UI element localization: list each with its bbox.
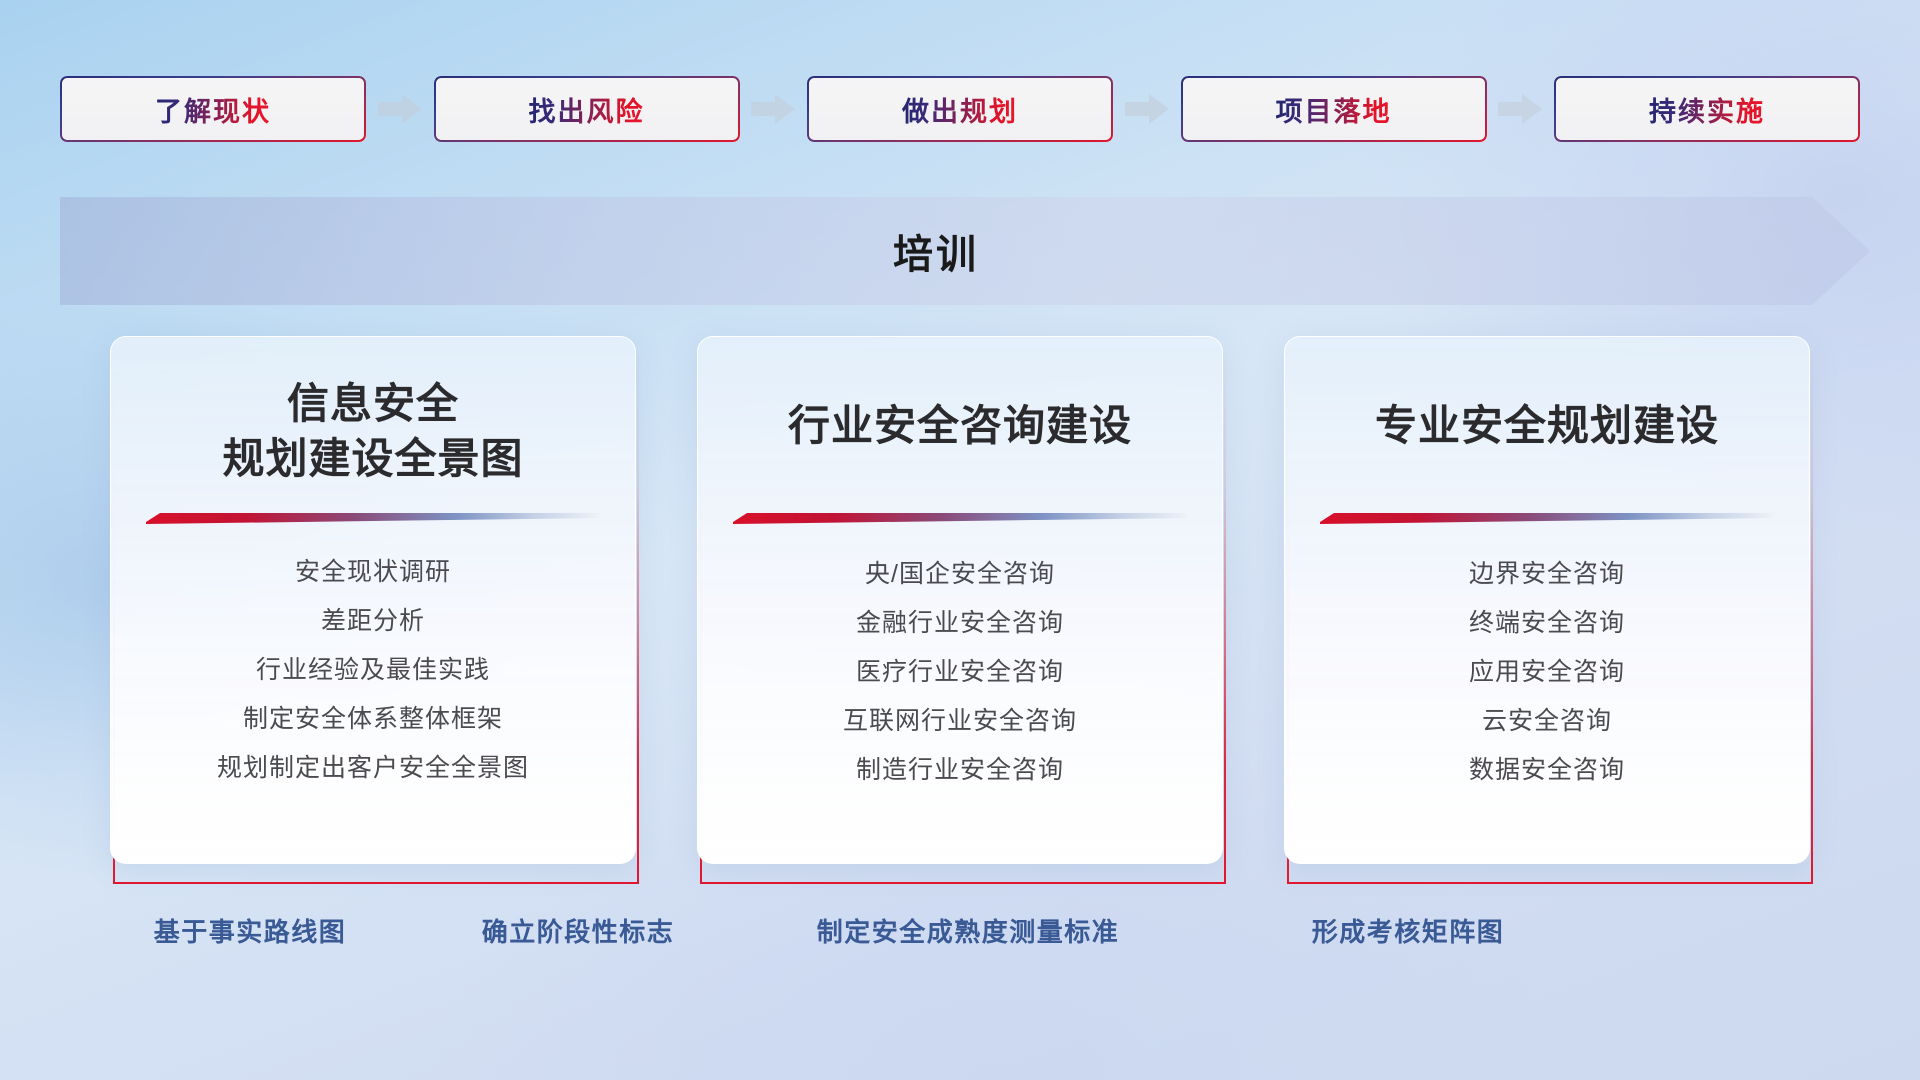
- bottom-label-2: 确立阶段性标志: [482, 912, 675, 949]
- cards-row: 信息安全 规划建设全景图: [110, 336, 1810, 872]
- card-list-2: 央/国企安全咨询 金融行业安全咨询 医疗行业安全咨询 互联网行业安全咨询 制造行…: [698, 550, 1222, 795]
- list-item: 安全现状调研: [295, 548, 451, 597]
- step-box-2[interactable]: 找出风险: [434, 76, 740, 142]
- list-item: 差距分析: [321, 597, 425, 646]
- step-box-5[interactable]: 持续实施: [1554, 76, 1860, 142]
- bottom-label-1: 基于事实路线图: [154, 912, 347, 949]
- bottom-label-4: 形成考核矩阵图: [1312, 912, 1505, 949]
- bottom-labels-row: 基于事实路线图 确立阶段性标志 制定安全成熟度测量标准 形成考核矩阵图: [0, 912, 1920, 956]
- card-title-2: 行业安全咨询建设: [772, 399, 1148, 454]
- card-list-3: 边界安全咨询 终端安全咨询 应用安全咨询 云安全咨询 数据安全咨询: [1285, 550, 1809, 795]
- step-box-4[interactable]: 项目落地: [1181, 76, 1487, 142]
- gradient-divider-icon: [733, 512, 1187, 524]
- card-wrapper-2: 行业安全咨询建设: [697, 336, 1223, 872]
- card-2[interactable]: 行业安全咨询建设: [697, 336, 1223, 864]
- list-item: 规划制定出客户安全全景图: [217, 744, 529, 793]
- chevron-right-arrow-icon: [378, 92, 422, 126]
- step-label-1: 了解现状: [155, 90, 271, 129]
- card-title-1: 信息安全 规划建设全景图: [206, 377, 539, 486]
- infographic-canvas: 了解现状 找出风险 做出规划 项目落地: [0, 0, 1920, 1080]
- card-list-1: 安全现状调研 差距分析 行业经验及最佳实践 制定安全体系整体框架 规划制定出客户…: [111, 548, 635, 793]
- list-item: 终端安全咨询: [1469, 599, 1625, 648]
- bottom-label-3: 制定安全成熟度测量标准: [817, 912, 1120, 949]
- step-label-2: 找出风险: [529, 90, 645, 129]
- list-item: 制定安全体系整体框架: [243, 695, 503, 744]
- list-item: 数据安全咨询: [1469, 746, 1625, 795]
- list-item: 云安全咨询: [1482, 697, 1612, 746]
- step-box-3[interactable]: 做出规划: [807, 76, 1113, 142]
- process-steps-row: 了解现状 找出风险 做出规划 项目落地: [60, 75, 1860, 143]
- card-1[interactable]: 信息安全 规划建设全景图: [110, 336, 636, 864]
- list-item: 央/国企安全咨询: [865, 550, 1055, 599]
- gradient-divider-icon: [1320, 512, 1774, 524]
- card-title-3: 专业安全规划建设: [1359, 399, 1735, 454]
- list-item: 互联网行业安全咨询: [843, 697, 1077, 746]
- training-banner: 培训: [60, 197, 1870, 305]
- list-item: 行业经验及最佳实践: [256, 646, 490, 695]
- list-item: 边界安全咨询: [1469, 550, 1625, 599]
- step-label-3: 做出规划: [902, 90, 1018, 129]
- card-3[interactable]: 专业安全规划建设: [1284, 336, 1810, 864]
- chevron-right-arrow-icon: [1125, 92, 1169, 126]
- list-item: 金融行业安全咨询: [856, 599, 1064, 648]
- chevron-right-arrow-icon: [1498, 92, 1542, 126]
- list-item: 制造行业安全咨询: [856, 746, 1064, 795]
- step-label-4: 项目落地: [1276, 90, 1392, 129]
- chevron-right-arrow-icon: [751, 92, 795, 126]
- card-wrapper-1: 信息安全 规划建设全景图: [110, 336, 636, 872]
- list-item: 医疗行业安全咨询: [856, 648, 1064, 697]
- step-label-5: 持续实施: [1649, 90, 1765, 129]
- step-box-1[interactable]: 了解现状: [60, 76, 366, 142]
- list-item: 应用安全咨询: [1469, 648, 1625, 697]
- banner-title: 培训: [60, 197, 1812, 305]
- gradient-divider-icon: [146, 512, 600, 524]
- card-wrapper-3: 专业安全规划建设: [1284, 336, 1810, 872]
